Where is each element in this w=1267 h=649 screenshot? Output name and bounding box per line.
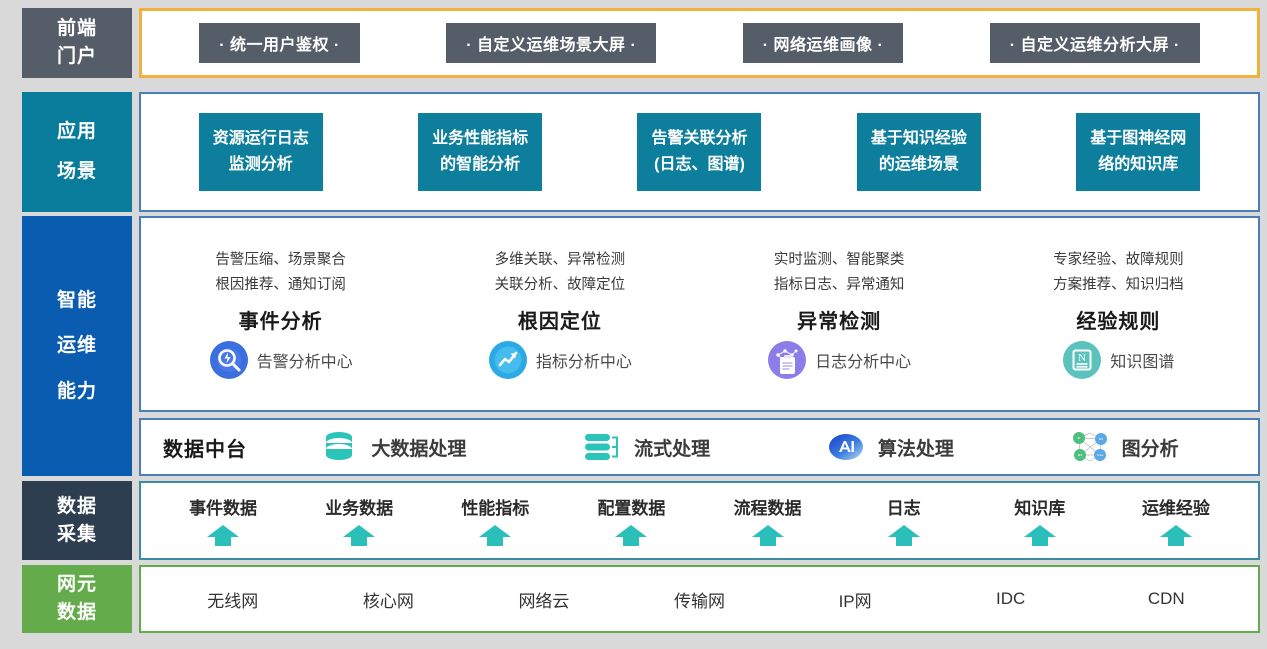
row-label-front-portal: 前端 门户 <box>22 8 132 78</box>
up-arrow-icon <box>477 523 513 547</box>
metric-analysis-icon <box>488 340 528 380</box>
scenario-card[interactable]: 资源运行日志 监测分析 <box>199 113 323 190</box>
scenario-card-line: 业务性能指标 <box>432 126 528 152</box>
scenario-card-line: 的运维场景 <box>871 152 967 178</box>
row-label-line: 前端 <box>57 15 97 43</box>
row-application-scenarios: 应用 场景 资源运行日志 监测分析 业务性能指标 的智能分析 告警关联分析 (日… <box>22 92 1260 212</box>
row-label-line: 采集 <box>57 521 97 549</box>
application-scenarios-panel: 资源运行日志 监测分析 业务性能指标 的智能分析 告警关联分析 (日志、图谱) … <box>139 92 1260 212</box>
capability-column-experience-rules[interactable]: 专家经验、故障规则 方案推荐、知识归档 经验规则 N 知识图谱 <box>979 218 1258 410</box>
row-aiops-capability: 智能 运维 能力 告警压缩、场景聚合 根因推荐、通知订阅 事件分析 <box>22 216 1260 476</box>
row-front-portal: 前端 门户 · 统一用户鉴权 · · 自定义运维场景大屏 · · 网络运维画像 … <box>22 8 1260 78</box>
capability-product-label: 告警分析中心 <box>257 348 353 372</box>
collection-item-label: 性能指标 <box>461 494 529 519</box>
collection-item-label: 日志 <box>887 494 921 519</box>
scenario-card-line: 告警关联分析 <box>651 126 747 152</box>
row-label-line: 门户 <box>57 43 97 71</box>
network-element-grid: 无线网 核心网 网络云 传输网 IP网 IDC CDN <box>155 587 1244 612</box>
portal-chip[interactable]: · 网络运维画像 · <box>743 23 904 63</box>
collection-item[interactable]: 业务数据 <box>291 483 427 558</box>
scenario-card[interactable]: 基于知识经验 的运维场景 <box>857 113 981 190</box>
platform-item-label: 算法处理 <box>878 434 954 461</box>
architecture-diagram: 前端 门户 · 统一用户鉴权 · · 自定义运维场景大屏 · · 网络运维画像 … <box>0 0 1267 649</box>
network-element-item[interactable]: 传输网 <box>622 587 778 612</box>
capability-title: 事件分析 <box>239 305 323 334</box>
svg-text:N: N <box>1078 352 1086 364</box>
svg-text:MS: MS <box>1077 453 1082 457</box>
scenario-card-line: 络的知识库 <box>1090 152 1186 178</box>
up-arrow-icon <box>341 523 377 547</box>
scenario-card[interactable]: 告警关联分析 (日志、图谱) <box>637 113 761 190</box>
row-label-line: 能力 <box>57 378 97 406</box>
capability-product[interactable]: 日志分析中心 <box>767 340 911 380</box>
scenario-card-line: 资源运行日志 <box>213 126 309 152</box>
up-arrow-icon <box>750 523 786 547</box>
aiops-capability-panel: 告警压缩、场景聚合 根因推荐、通知订阅 事件分析 告警分析中心 <box>139 216 1260 412</box>
scenario-card[interactable]: 业务性能指标 的智能分析 <box>418 113 542 190</box>
row-label-line: 数据 <box>57 599 97 627</box>
collection-item[interactable]: 性能指标 <box>427 483 563 558</box>
row-label-application-scenarios: 应用 场景 <box>22 92 132 212</box>
row-label-line: 场景 <box>57 158 97 186</box>
row-label-network-element-data: 网元 数据 <box>22 565 132 633</box>
capability-product[interactable]: N 知识图谱 <box>1062 340 1174 380</box>
row-label-line: 数据 <box>57 493 97 521</box>
row-label-line: 运维 <box>57 332 97 360</box>
collection-item-label: 流程数据 <box>734 494 802 519</box>
scenario-card-line: 的智能分析 <box>432 152 528 178</box>
capability-bullets: 多维关联、异常检测 关联分析、故障定位 <box>495 248 626 299</box>
network-element-item[interactable]: IP网 <box>777 587 933 612</box>
capability-bullet: 告警压缩、场景聚合 <box>215 248 346 273</box>
collection-item-label: 知识库 <box>1014 494 1065 519</box>
network-element-panel: 无线网 核心网 网络云 传输网 IP网 IDC CDN <box>139 565 1260 633</box>
capability-title: 经验规则 <box>1076 305 1160 334</box>
capability-column-root-cause[interactable]: 多维关联、异常检测 关联分析、故障定位 根因定位 指标分析中心 <box>420 218 699 410</box>
capability-bullet: 指标日志、异常通知 <box>774 273 905 298</box>
stream-icon <box>581 429 623 465</box>
scenario-card-line: 基于知识经验 <box>871 126 967 152</box>
row-label-line: 应用 <box>57 118 97 146</box>
network-element-item[interactable]: CDN <box>1088 589 1244 609</box>
collection-item[interactable]: 运维经验 <box>1108 483 1244 558</box>
capability-product-label: 日志分析中心 <box>815 348 911 372</box>
platform-item-label: 大数据处理 <box>371 434 466 461</box>
platform-item-label: 流式处理 <box>634 434 710 461</box>
capability-bullet: 专家经验、故障规则 <box>1053 248 1184 273</box>
row-label-aiops-capability: 智能 运维 能力 <box>22 216 132 476</box>
up-arrow-icon <box>886 523 922 547</box>
network-element-item[interactable]: IDC <box>933 589 1089 609</box>
row-network-element-data: 网元 数据 无线网 核心网 网络云 传输网 IP网 IDC CDN <box>22 565 1260 633</box>
collection-item[interactable]: 配置数据 <box>563 483 699 558</box>
portal-chip[interactable]: · 自定义运维分析大屏 · <box>990 23 1200 63</box>
data-middle-platform-title: 数据中台 <box>163 433 247 462</box>
up-arrow-icon <box>205 523 241 547</box>
collection-item[interactable]: 事件数据 <box>155 483 291 558</box>
collection-item[interactable]: 日志 <box>836 483 972 558</box>
database-icon <box>318 429 360 465</box>
data-collection-panel: 事件数据 业务数据 性能指标 配置数据 流程数据 <box>139 481 1260 560</box>
capability-bullet: 实时监测、智能聚类 <box>774 248 905 273</box>
network-element-item[interactable]: 无线网 <box>155 587 311 612</box>
platform-item-algorithm[interactable]: 算法处理 <box>825 429 954 465</box>
ai-icon <box>825 429 867 465</box>
capability-bullet: 多维关联、异常检测 <box>495 248 626 273</box>
capability-bullet: 方案推荐、知识归档 <box>1053 273 1184 298</box>
front-portal-panel: · 统一用户鉴权 · · 自定义运维场景大屏 · · 网络运维画像 · · 自定… <box>139 8 1260 78</box>
capability-product-label: 指标分析中心 <box>536 348 632 372</box>
svg-text:IP: IP <box>1077 436 1080 440</box>
scenario-card-line: 基于图神经网 <box>1090 126 1186 152</box>
scenario-card-line: 监测分析 <box>213 152 309 178</box>
up-arrow-icon <box>1022 523 1058 547</box>
collection-item-label: 运维经验 <box>1142 494 1210 519</box>
row-label-line: 网元 <box>57 571 97 599</box>
scenario-card[interactable]: 基于图神经网 络的知识库 <box>1076 113 1200 190</box>
capability-product-label: 知识图谱 <box>1110 348 1174 372</box>
network-element-item[interactable]: 网络云 <box>466 587 622 612</box>
graph-network-icon: IPDC MSCore <box>1069 429 1111 465</box>
portal-chip[interactable]: · 自定义运维场景大屏 · <box>446 23 656 63</box>
capability-bullets: 专家经验、故障规则 方案推荐、知识归档 <box>1053 248 1184 299</box>
knowledge-graph-icon: N <box>1062 340 1102 380</box>
capability-bullets: 实时监测、智能聚类 指标日志、异常通知 <box>774 248 905 299</box>
capability-column-event-analysis[interactable]: 告警压缩、场景聚合 根因推荐、通知订阅 事件分析 告警分析中心 <box>141 218 420 410</box>
row-label-line: 智能 <box>57 287 97 315</box>
capability-column-anomaly-detection[interactable]: 实时监测、智能聚类 指标日志、异常通知 异常检测 <box>700 218 979 410</box>
capability-bullet: 关联分析、故障定位 <box>495 273 626 298</box>
data-middle-platform-items: 大数据处理 流式处理 <box>261 429 1236 465</box>
platform-item-label: 图分析 <box>1122 434 1179 461</box>
collection-item-label: 事件数据 <box>189 494 257 519</box>
platform-item-streaming[interactable]: 流式处理 <box>581 429 710 465</box>
capability-product[interactable]: 告警分析中心 <box>209 340 353 380</box>
data-collection-grid: 事件数据 业务数据 性能指标 配置数据 流程数据 <box>141 483 1258 558</box>
portal-chip[interactable]: · 统一用户鉴权 · <box>199 23 360 63</box>
capability-bullet: 根因推荐、通知订阅 <box>215 273 346 298</box>
scenario-card-line: (日志、图谱) <box>651 152 747 178</box>
svg-text:Core: Core <box>1096 453 1103 457</box>
alert-analysis-icon <box>209 340 249 380</box>
collection-item[interactable]: 流程数据 <box>700 483 836 558</box>
platform-item-graph[interactable]: IPDC MSCore 图分析 <box>1069 429 1179 465</box>
capability-product[interactable]: 指标分析中心 <box>488 340 632 380</box>
up-arrow-icon <box>1158 523 1194 547</box>
row-label-data-collection: 数据 采集 <box>22 481 132 560</box>
collection-item-label: 配置数据 <box>597 494 665 519</box>
collection-item[interactable]: 知识库 <box>972 483 1108 558</box>
up-arrow-icon <box>613 523 649 547</box>
log-analysis-icon <box>767 340 807 380</box>
capability-title: 异常检测 <box>797 305 881 334</box>
platform-item-bigdata[interactable]: 大数据处理 <box>318 429 466 465</box>
data-middle-platform-panel: 数据中台 大数据处理 <box>139 418 1260 476</box>
row-data-collection: 数据 采集 事件数据 业务数据 性能指标 配置数据 <box>22 481 1260 560</box>
capability-bullets: 告警压缩、场景聚合 根因推荐、通知订阅 <box>215 248 346 299</box>
aiops-stack: 告警压缩、场景聚合 根因推荐、通知订阅 事件分析 告警分析中心 <box>139 216 1260 476</box>
collection-item-label: 业务数据 <box>325 494 393 519</box>
network-element-item[interactable]: 核心网 <box>311 587 467 612</box>
capability-title: 根因定位 <box>518 305 602 334</box>
